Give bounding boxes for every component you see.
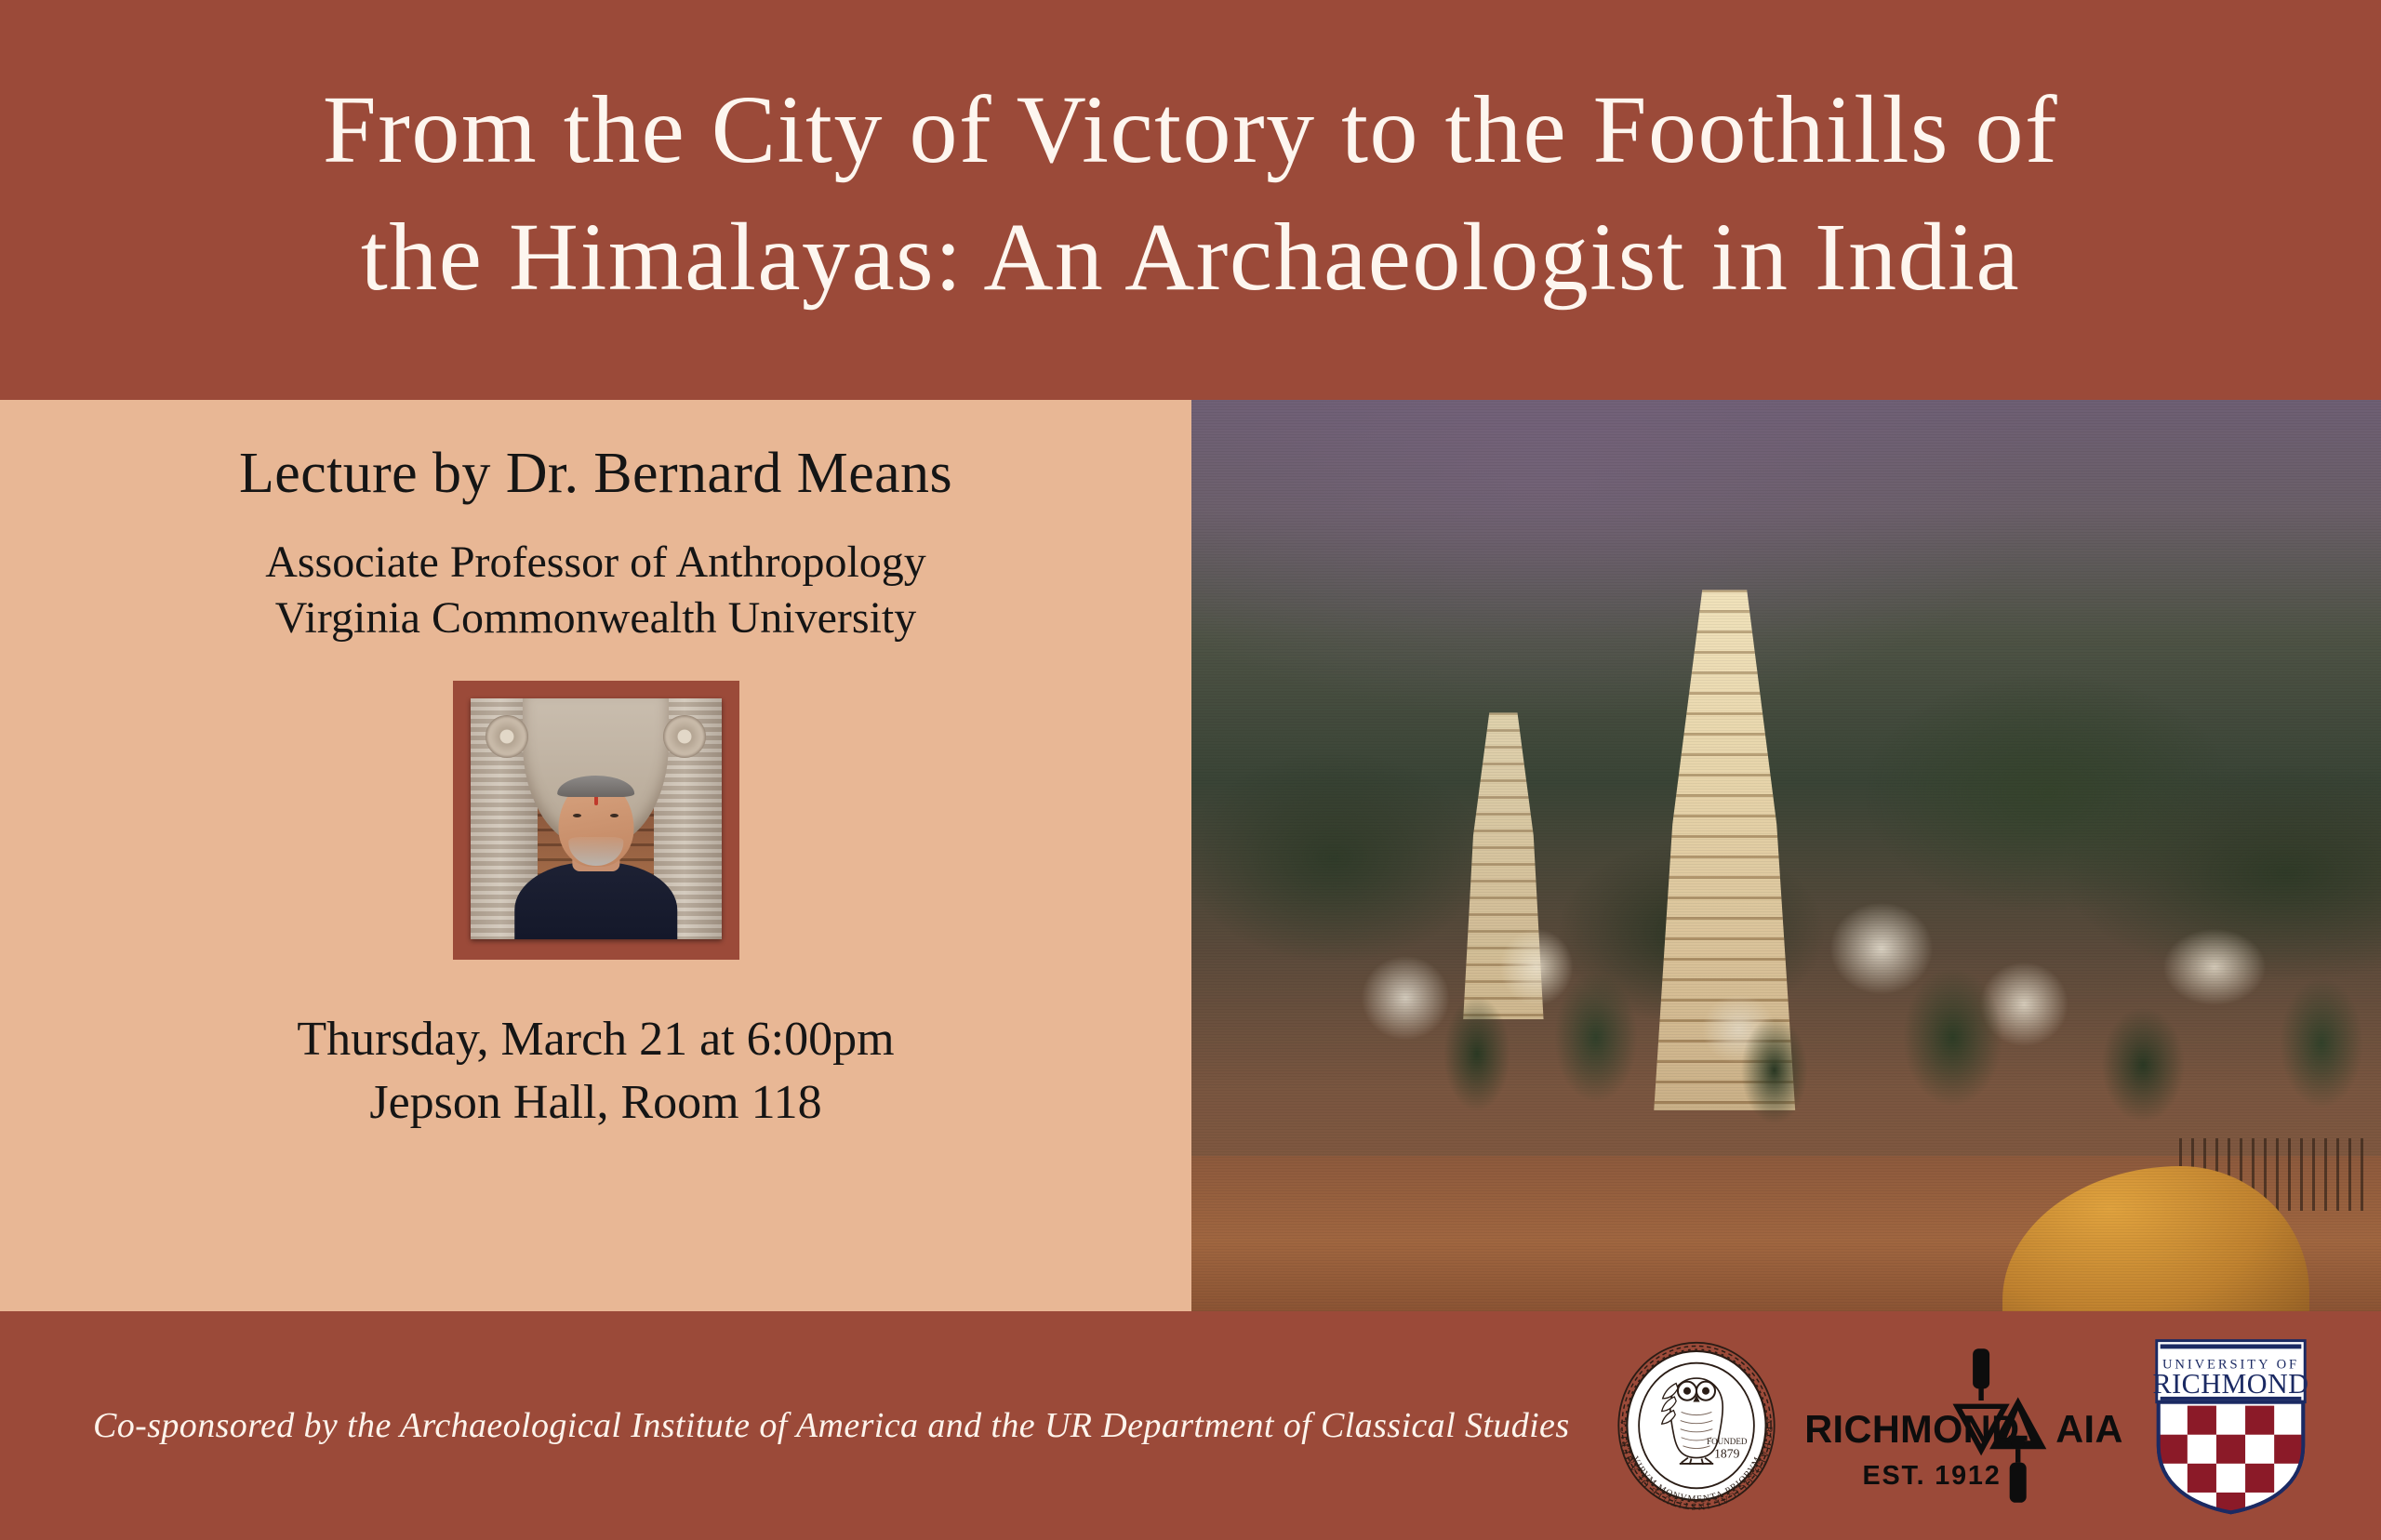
speaker-portrait: Portrait of Dr. Bernard Means in front o… [471, 698, 722, 939]
aia-seal-founded-year: 1879 [1714, 1447, 1739, 1461]
portrait-torso [514, 862, 678, 939]
richmond-established: EST. 1912 [1862, 1461, 2001, 1491]
richmond-va-aia-logo: RICHMOND AIA EST. 1912 [1798, 1339, 2133, 1512]
speaker-portrait-frame: Portrait of Dr. Bernard Means in front o… [453, 681, 739, 960]
temple-photo-grain [1191, 400, 2381, 1311]
portrait-rosette-left-icon [486, 715, 528, 758]
aia-seal-logo: ARCHAEOLOGICAL INSTITUTE OF AMERICA VIRV… [1612, 1339, 1781, 1512]
university-of-richmond-logo: UNIVERSITY OF RICHMOND [2149, 1334, 2312, 1517]
poster-header: From the City of Victory to the Foothill… [0, 0, 2381, 400]
speaker-affiliation: Associate Professor of Anthropology Virg… [265, 535, 926, 647]
poster: From the City of Victory to the Foothill… [0, 0, 2381, 1540]
lecture-by-line: Lecture by Dr. Bernard Means [239, 441, 952, 507]
temple-photo: Virupaksha Temple gopuram rising above t… [1191, 400, 2381, 1311]
poster-body: Lecture by Dr. Bernard Means Associate P… [0, 400, 2381, 1311]
poster-footer: Co-sponsored by the Archaeological Insti… [0, 1311, 2381, 1540]
poster-title: From the City of Victory to the Foothill… [323, 66, 2058, 322]
richmond-word: RICHMOND [1804, 1408, 2019, 1451]
ur-line2: RICHMOND [2153, 1368, 2309, 1400]
cosponsor-text: Co-sponsored by the Archaeological Insti… [93, 1405, 1612, 1446]
aia-seal-founded-label: FOUNDED [1707, 1437, 1748, 1446]
details-column: Lecture by Dr. Bernard Means Associate P… [0, 400, 1191, 1311]
event-datetime-location: Thursday, March 21 at 6:00pm Jepson Hall… [297, 1008, 894, 1134]
logo-group: ARCHAEOLOGICAL INSTITUTE OF AMERICA VIRV… [1612, 1334, 2344, 1517]
aia-word: AIA [2055, 1408, 2123, 1451]
